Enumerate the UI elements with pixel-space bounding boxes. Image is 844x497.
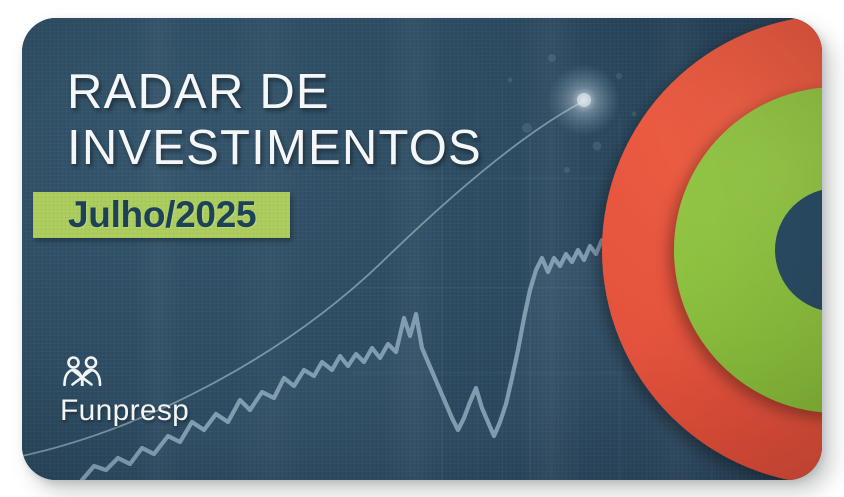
brand-logo: Funpresp <box>60 356 189 428</box>
title-line-1: RADAR DE <box>67 64 482 120</box>
page-title: RADAR DE INVESTIMENTOS <box>67 64 482 176</box>
poster-stage: RADAR DE INVESTIMENTOS Julho/2025 Funpre… <box>0 0 844 497</box>
period-label: Julho/2025 <box>68 195 256 235</box>
brand-name: Funpresp <box>60 394 189 427</box>
two-people-icon <box>60 356 189 391</box>
radar-investment-card: RADAR DE INVESTIMENTOS Julho/2025 Funpre… <box>22 18 822 480</box>
title-line-2: INVESTIMENTOS <box>67 120 482 176</box>
